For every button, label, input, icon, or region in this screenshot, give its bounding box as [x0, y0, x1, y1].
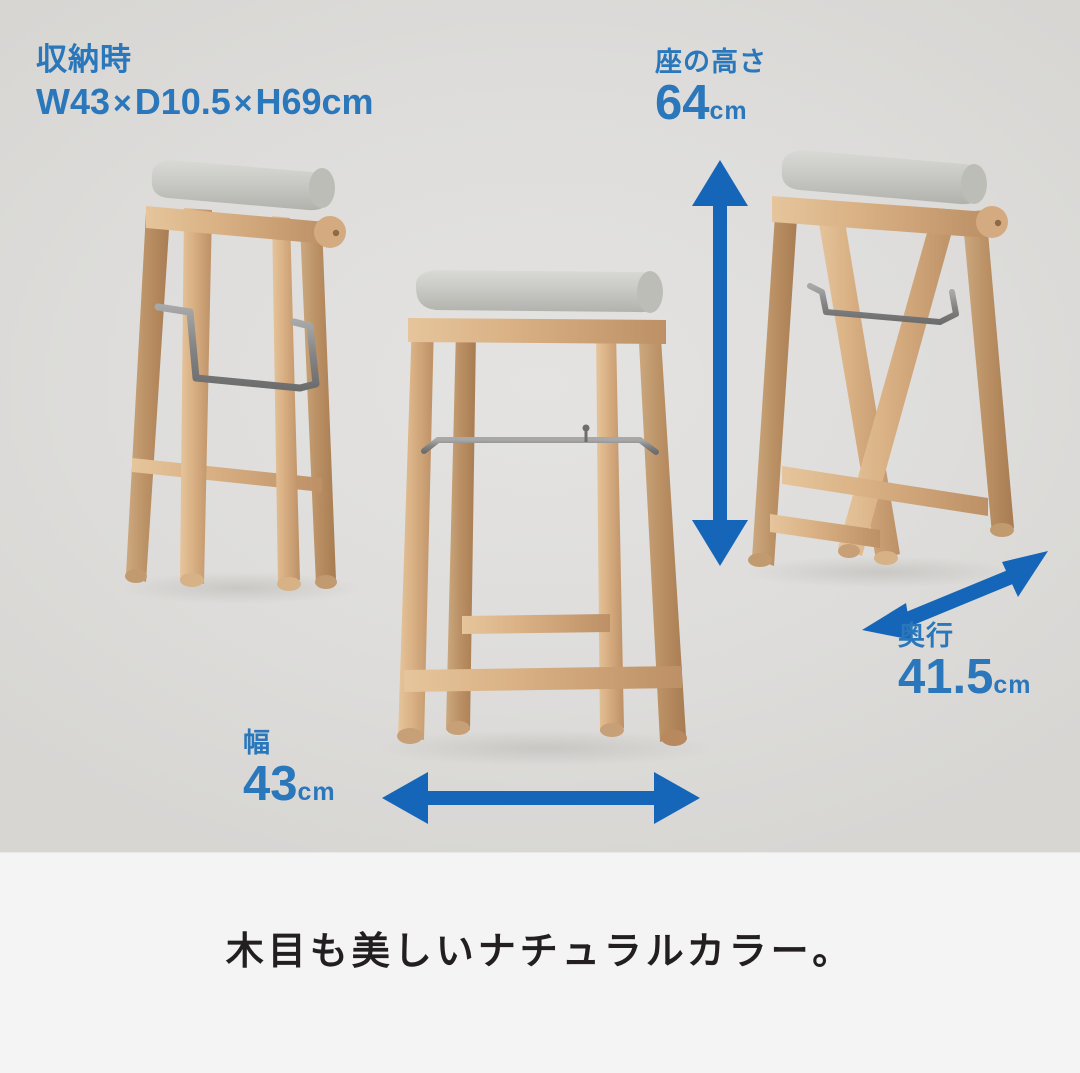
depth-value: 41.5: [898, 650, 993, 704]
seat-height-title: 座の高さ: [655, 48, 767, 76]
stored-dimensions-label: 収納時 W43×D10.5×H69cm: [36, 44, 374, 120]
width-value: 43: [243, 757, 298, 811]
stool-illustrations: [0, 0, 1080, 1073]
depth-unit: cm: [993, 671, 1031, 699]
seat-height-value: 64: [655, 76, 710, 130]
bottom-caption: 木目も美しいナチュラルカラー。: [0, 920, 1080, 975]
stored-dimensions-value: W43×D10.5×H69cm: [36, 81, 374, 122]
width-title: 幅: [243, 729, 336, 757]
seat-height-label: 座の高さ 64cm: [655, 48, 767, 130]
depth-label: 奥行 41.5cm: [898, 622, 1032, 704]
stool-front: [375, 270, 715, 766]
infographic-page: 収納時 W43×D10.5×H69cm 座の高さ 64cm 奥行 41.5cm …: [0, 0, 1080, 1073]
stool-folded: [120, 160, 360, 604]
width-unit: cm: [298, 778, 336, 806]
stool-angled: [745, 150, 1015, 588]
seat-height-unit: cm: [710, 97, 748, 125]
width-label: 幅 43cm: [243, 729, 336, 811]
depth-title: 奥行: [898, 622, 1032, 650]
stored-title: 収納時: [36, 44, 374, 77]
